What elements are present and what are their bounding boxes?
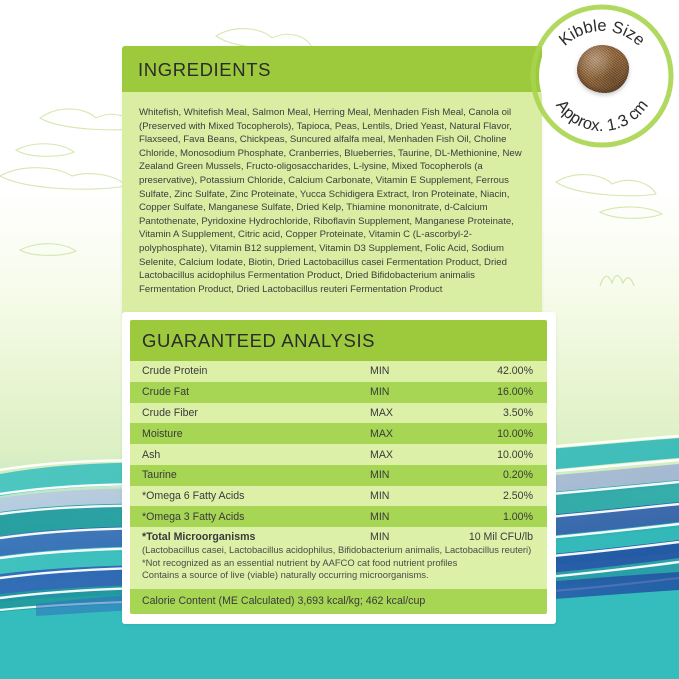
kibble-piece-image bbox=[577, 45, 629, 93]
nutrient-value: 3.50% bbox=[465, 403, 547, 424]
microorganisms-label: *Total Microorganisms bbox=[142, 531, 370, 543]
aafco-footnote: *Not recognized as an essential nutrient… bbox=[142, 557, 535, 569]
microorganisms-qualifier: MIN bbox=[370, 531, 465, 543]
nutrient-qualifier: MIN bbox=[370, 465, 465, 486]
nutrient-name: Crude Fat bbox=[130, 382, 370, 403]
nutrient-name: Taurine bbox=[130, 465, 370, 486]
table-row: Crude FiberMAX3.50% bbox=[130, 403, 547, 424]
nutrient-name: *Omega 3 Fatty Acids bbox=[130, 506, 370, 527]
microorganisms-strains: (Lactobacillus casei, Lactobacillus acid… bbox=[142, 544, 535, 556]
nutrient-name: Moisture bbox=[130, 423, 370, 444]
nutrient-name: Ash bbox=[130, 444, 370, 465]
nutrient-qualifier: MAX bbox=[370, 403, 465, 424]
nutrient-value: 1.00% bbox=[465, 506, 547, 527]
table-row: Crude FatMIN16.00% bbox=[130, 382, 547, 403]
ingredients-header-title: INGREDIENTS bbox=[138, 59, 271, 80]
nutrient-value: 10.00% bbox=[465, 423, 547, 444]
nutrient-name: Crude Protein bbox=[130, 361, 370, 382]
guaranteed-analysis-inner: GUARANTEED ANALYSIS Crude ProteinMIN42.0… bbox=[130, 320, 547, 614]
nutrient-value: 2.50% bbox=[465, 486, 547, 507]
product-label-image: INGREDIENTS Whitefish, Whitefish Meal, S… bbox=[0, 0, 679, 679]
nutrient-name: *Omega 6 Fatty Acids bbox=[130, 486, 370, 507]
table-row: Crude ProteinMIN42.00% bbox=[130, 361, 547, 382]
guaranteed-analysis-table: Crude ProteinMIN42.00%Crude FatMIN16.00%… bbox=[130, 361, 547, 527]
nutrient-qualifier: MIN bbox=[370, 486, 465, 507]
guaranteed-analysis-header: GUARANTEED ANALYSIS bbox=[130, 320, 547, 361]
table-row: AshMAX10.00% bbox=[130, 444, 547, 465]
microorganisms-value: 10 Mil CFU/lb bbox=[465, 531, 535, 543]
nutrient-qualifier: MIN bbox=[370, 361, 465, 382]
kibble-size-badge: Kibble Size Approx. 1.3 cm bbox=[529, 3, 675, 149]
calorie-content-row: Calorie Content (ME Calculated) 3,693 kc… bbox=[130, 589, 547, 614]
table-row: *Omega 3 Fatty AcidsMIN1.00% bbox=[130, 506, 547, 527]
table-row: *Omega 6 Fatty AcidsMIN2.50% bbox=[130, 486, 547, 507]
live-cultures-footnote: Contains a source of live (viable) natur… bbox=[142, 569, 535, 581]
nutrient-qualifier: MIN bbox=[370, 506, 465, 527]
guaranteed-analysis-card: GUARANTEED ANALYSIS Crude ProteinMIN42.0… bbox=[122, 312, 556, 624]
table-row: TaurineMIN0.20% bbox=[130, 465, 547, 486]
ingredients-list-text: Whitefish, Whitefish Meal, Salmon Meal, … bbox=[139, 106, 525, 296]
guaranteed-analysis-header-title: GUARANTEED ANALYSIS bbox=[142, 330, 375, 351]
nutrient-value: 0.20% bbox=[465, 465, 547, 486]
nutrient-name: Crude Fiber bbox=[130, 403, 370, 424]
nutrient-value: 16.00% bbox=[465, 382, 547, 403]
ingredients-body: Whitefish, Whitefish Meal, Salmon Meal, … bbox=[122, 92, 542, 318]
table-row: MoistureMAX10.00% bbox=[130, 423, 547, 444]
nutrient-qualifier: MAX bbox=[370, 444, 465, 465]
total-microorganisms-row: *Total Microorganisms MIN 10 Mil CFU/lb bbox=[142, 529, 535, 544]
total-microorganisms-block: *Total Microorganisms MIN 10 Mil CFU/lb … bbox=[130, 527, 547, 589]
nutrient-value: 42.00% bbox=[465, 361, 547, 382]
ingredients-header: INGREDIENTS bbox=[122, 46, 542, 92]
ingredients-card: INGREDIENTS Whitefish, Whitefish Meal, S… bbox=[122, 46, 542, 318]
nutrient-qualifier: MAX bbox=[370, 423, 465, 444]
nutrient-value: 10.00% bbox=[465, 444, 547, 465]
nutrient-qualifier: MIN bbox=[370, 382, 465, 403]
